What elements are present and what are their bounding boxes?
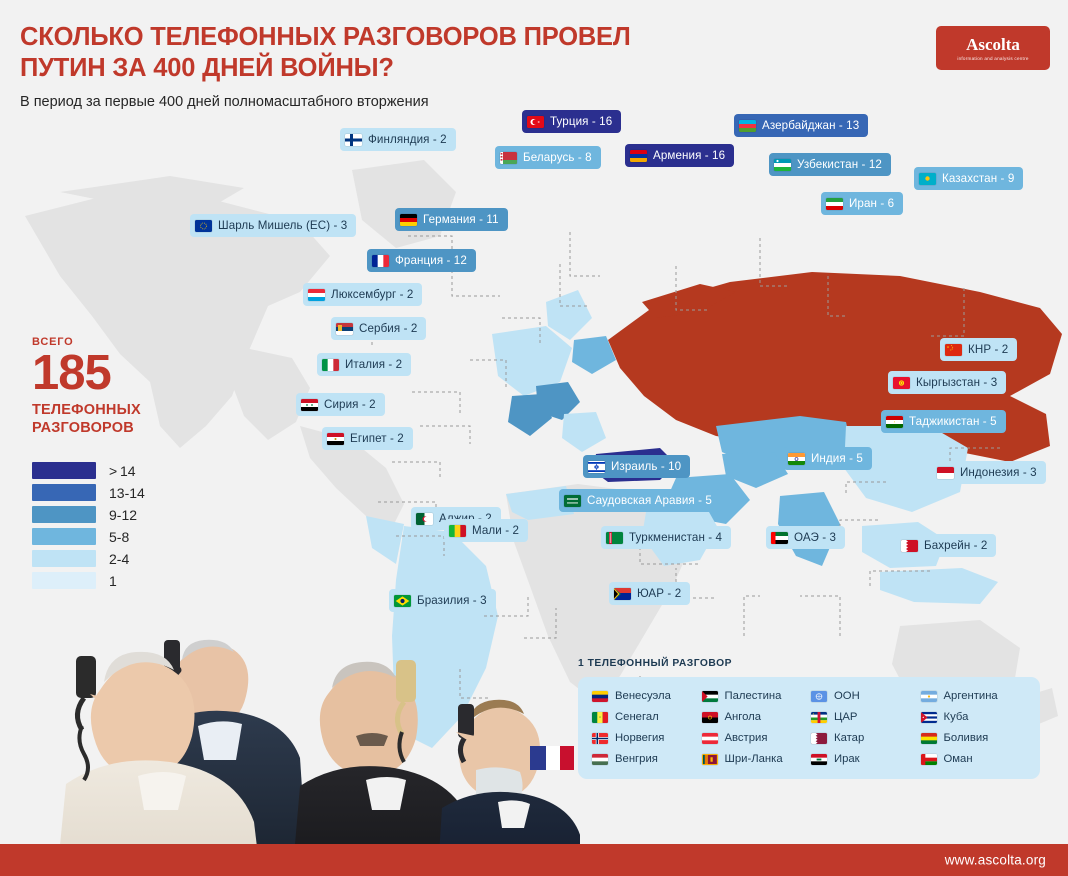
flag-icon-iran: [826, 198, 843, 210]
single-call-item[interactable]: Ангола: [702, 711, 808, 723]
logo-tagline: information and analysis centre: [957, 56, 1028, 61]
single-call-label: Норвегия: [615, 732, 664, 744]
flag-icon-armenia: [630, 150, 647, 162]
country-pill-label: Сирия - 2: [324, 399, 376, 411]
flag-icon: [811, 754, 827, 765]
country-pill-label: Азербайджан - 13: [762, 120, 859, 132]
country-pill-label: Израиль - 10: [611, 461, 681, 473]
scale-legend-row: 1: [32, 570, 182, 591]
flag-icon-kazakhstan: [919, 173, 936, 185]
flag-icon: [702, 691, 718, 702]
country-pill-label: Таджикистан - 5: [909, 416, 997, 428]
country-pill-label: Бахрейн - 2: [924, 540, 987, 552]
page-title: СКОЛЬКО ТЕЛЕФОННЫХ РАЗГОВОРОВ ПРОВЕЛ ПУТ…: [20, 22, 720, 84]
flag-icon-china: [945, 344, 962, 356]
flag-icon-luxembourg: [308, 289, 325, 301]
flag-icon-azerbaijan: [739, 120, 756, 132]
country-pill-label: Бразилия - 3: [417, 595, 487, 607]
country-pill-brazil[interactable]: Бразилия - 3: [389, 589, 496, 612]
country-pill-kazakhstan[interactable]: Казахстан - 9: [914, 167, 1023, 190]
country-pill-charles-michel[interactable]: Шарль Мишель (ЕС) - 3: [190, 214, 356, 237]
flag-icon-belarus: [500, 152, 517, 164]
country-pill-iran[interactable]: Иран - 6: [821, 192, 903, 215]
header: СКОЛЬКО ТЕЛЕФОННЫХ РАЗГОВОРОВ ПРОВЕЛ ПУТ…: [0, 0, 1068, 96]
page-subtitle: В период за первые 400 дней полномасштаб…: [20, 92, 440, 113]
single-call-item[interactable]: Аргентина: [921, 690, 1027, 702]
single-call-panel: 1 ТЕЛЕФОННЫЙ РАЗГОВОР ВенесуэлаПалестина…: [578, 658, 1040, 779]
country-pill-armenia[interactable]: Армения - 16: [625, 144, 734, 167]
scale-label: 1: [109, 573, 117, 589]
country-pill-luxembourg[interactable]: Люксембург - 2: [303, 283, 422, 306]
single-call-item[interactable]: Катар: [811, 732, 917, 744]
single-call-item[interactable]: Австрия: [702, 732, 808, 744]
flag-icon: [702, 733, 718, 744]
scale-label: 2-4: [109, 551, 129, 567]
country-pill-germany[interactable]: Германия - 11: [395, 208, 508, 231]
flag-icon-algeria: [416, 513, 433, 525]
flag-icon-india: [788, 453, 805, 465]
color-scale-legend: > 1413-149-125-82-41: [32, 460, 182, 592]
country-pill-kyrgyzstan[interactable]: Кыргызстан - 3: [888, 371, 1006, 394]
leaders-photo-group: [60, 578, 580, 848]
single-call-label: Ангола: [725, 711, 762, 723]
scale-label: 5-8: [109, 529, 129, 545]
flag-icon-serbia: [336, 323, 353, 335]
flag-icon: [592, 733, 608, 744]
single-call-item[interactable]: Венесуэла: [592, 690, 698, 702]
flag-icon: [811, 691, 827, 702]
single-call-item[interactable]: Оман: [921, 753, 1027, 765]
single-call-box: ВенесуэлаПалестинаООНАргентинаСенегалАнг…: [578, 677, 1040, 779]
logo-name: Ascolta: [966, 36, 1020, 53]
total-calls-block: ВСЕГО 185 ТЕЛЕФОННЫХ РАЗГОВОРОВ: [32, 336, 212, 437]
country-pill-label: Финляндия - 2: [368, 134, 447, 146]
flag-icon-indonesia: [937, 467, 954, 479]
country-pill-label: Индия - 5: [811, 453, 863, 465]
country-pill-belarus[interactable]: Беларусь - 8: [495, 146, 601, 169]
single-call-label: Оман: [944, 753, 973, 765]
country-pill-label: Германия - 11: [423, 214, 499, 226]
flag-icon-turkmenistan: [606, 532, 623, 544]
single-call-label: Венесуэла: [615, 690, 671, 702]
flag-icon-germany: [400, 214, 417, 226]
single-call-label: Палестина: [725, 690, 782, 702]
flag-icon: [921, 754, 937, 765]
country-pill-label: Франция - 12: [395, 255, 467, 267]
flag-icon-brazil: [394, 595, 411, 607]
flag-icon: [702, 754, 718, 765]
scale-legend-row: 5-8: [32, 526, 182, 547]
scale-legend-row: 2-4: [32, 548, 182, 569]
country-pill-label: Египет - 2: [350, 433, 404, 445]
country-pill-mali[interactable]: Мали - 2: [444, 519, 528, 542]
footer-url[interactable]: www.ascolta.org: [945, 853, 1046, 868]
scale-swatch: [32, 572, 96, 589]
scale-label: 9-12: [109, 507, 137, 523]
country-pill-label: Мали - 2: [472, 525, 519, 537]
country-pill-serbia[interactable]: Сербия - 2: [331, 317, 426, 340]
country-pill-label: Узбекистан - 12: [797, 159, 882, 171]
total-caption: ТЕЛЕФОННЫХ РАЗГОВОРОВ: [32, 402, 212, 437]
country-pill-uae[interactable]: ОАЭ - 3: [766, 526, 845, 549]
single-call-item[interactable]: Венгрия: [592, 753, 698, 765]
single-call-label: Куба: [944, 711, 969, 723]
flag-icon: [592, 691, 608, 702]
single-call-label: Боливия: [944, 732, 989, 744]
country-pill-finland[interactable]: Финляндия - 2: [340, 128, 456, 151]
flag-icon-bahrain: [901, 540, 918, 552]
country-pill-label: Италия - 2: [345, 359, 402, 371]
single-call-item[interactable]: Ирак: [811, 753, 917, 765]
flag-icon: [592, 712, 608, 723]
single-call-item[interactable]: ЦАР: [811, 711, 917, 723]
single-call-label: Аргентина: [944, 690, 998, 702]
single-call-label: Австрия: [725, 732, 768, 744]
scale-swatch: [32, 506, 96, 523]
footer-bar: www.ascolta.org: [0, 844, 1068, 876]
single-call-label: Сенегал: [615, 711, 659, 723]
infographic-root: .land { fill:#e3e3e3; } .b1 { fill:#ddef…: [0, 0, 1068, 876]
country-pill-france[interactable]: Франция - 12: [367, 249, 476, 272]
flag-icon-uae: [771, 532, 788, 544]
single-call-item[interactable]: Куба: [921, 711, 1027, 723]
flag-icon: [702, 712, 718, 723]
flag-icon-finland: [345, 134, 362, 146]
country-pill-label: ЮАР - 2: [637, 588, 681, 600]
country-pill-uzbekistan[interactable]: Узбекистан - 12: [769, 153, 891, 176]
country-pill-label: Армения - 16: [653, 150, 725, 162]
country-pill-azerbaijan[interactable]: Азербайджан - 13: [734, 114, 868, 137]
country-pill-turkey[interactable]: Турция - 16: [522, 110, 621, 133]
scale-swatch: [32, 462, 96, 479]
country-pill-label: Беларусь - 8: [523, 152, 592, 164]
flag-icon: [592, 754, 608, 765]
single-call-title: 1 ТЕЛЕФОННЫЙ РАЗГОВОР: [578, 658, 1040, 669]
country-pill-indonesia[interactable]: Индонезия - 3: [932, 461, 1046, 484]
country-pill-label: Кыргызстан - 3: [916, 377, 997, 389]
flag-icon-charles-michel: [195, 220, 212, 232]
country-pill-label: Индонезия - 3: [960, 467, 1037, 479]
country-pill-bahrain[interactable]: Бахрейн - 2: [896, 534, 996, 557]
flag-icon: [921, 691, 937, 702]
flag-icon-italy: [322, 359, 339, 371]
scale-legend-row: > 14: [32, 460, 182, 481]
flag-icon-mali: [449, 525, 466, 537]
country-pill-label: Шарль Мишель (ЕС) - 3: [218, 220, 347, 232]
scale-swatch: [32, 484, 96, 501]
flag-icon: [811, 733, 827, 744]
scale-legend-row: 13-14: [32, 482, 182, 503]
country-pill-label: Иран - 6: [849, 198, 894, 210]
flag-icon-saudi-arabia: [564, 495, 581, 507]
single-call-item[interactable]: Боливия: [921, 732, 1027, 744]
country-pill-label: Саудовская Аравия - 5: [587, 495, 712, 507]
ascolta-logo[interactable]: Ascolta information and analysis centre: [936, 26, 1050, 70]
flag-icon-south-africa: [614, 588, 631, 600]
country-pill-tajikistan[interactable]: Таджикистан - 5: [881, 410, 1006, 433]
flag-icon-syria: [301, 399, 318, 411]
scale-label: > 14: [109, 463, 136, 479]
flag-icon-uzbekistan: [774, 159, 791, 171]
country-pill-label: Казахстан - 9: [942, 173, 1014, 185]
country-pill-china[interactable]: КНР - 2: [940, 338, 1017, 361]
single-call-label: Шри-Ланка: [725, 753, 783, 765]
country-pill-turkmenistan[interactable]: Туркменистан - 4: [601, 526, 731, 549]
country-pill-label: Турция - 16: [550, 116, 612, 128]
single-call-item[interactable]: Сенегал: [592, 711, 698, 723]
flag-icon-egypt: [327, 433, 344, 445]
flag-icon: [921, 712, 937, 723]
flag-icon: [921, 733, 937, 744]
scale-legend-row: 9-12: [32, 504, 182, 525]
country-pill-label: Сербия - 2: [359, 323, 417, 335]
scale-label: 13-14: [109, 485, 145, 501]
single-call-item[interactable]: Норвегия: [592, 732, 698, 744]
country-pill-italy[interactable]: Италия - 2: [317, 353, 411, 376]
flag-icon-turkey: [527, 116, 544, 128]
single-call-label: Ирак: [834, 753, 860, 765]
single-call-label: Венгрия: [615, 753, 658, 765]
single-call-item[interactable]: Палестина: [702, 690, 808, 702]
country-pill-india[interactable]: Индия - 5: [783, 447, 872, 470]
country-pill-label: ОАЭ - 3: [794, 532, 836, 544]
country-pill-label: Люксембург - 2: [331, 289, 413, 301]
country-pill-israel[interactable]: Израиль - 10: [583, 455, 690, 478]
country-pill-label: Туркменистан - 4: [629, 532, 722, 544]
flag-icon-france: [372, 255, 389, 267]
single-call-grid: ВенесуэлаПалестинаООНАргентинаСенегалАнг…: [592, 690, 1026, 765]
country-pill-syria[interactable]: Сирия - 2: [296, 393, 385, 416]
country-pill-label: КНР - 2: [968, 344, 1008, 356]
single-call-item[interactable]: Шри-Ланка: [702, 753, 808, 765]
flag-icon: [811, 712, 827, 723]
single-call-label: Катар: [834, 732, 864, 744]
flag-icon-kyrgyzstan: [893, 377, 910, 389]
total-number: 185: [32, 350, 212, 397]
scale-swatch: [32, 550, 96, 567]
flag-icon-israel: [588, 461, 605, 473]
country-pill-south-africa[interactable]: ЮАР - 2: [609, 582, 690, 605]
single-call-item[interactable]: ООН: [811, 690, 917, 702]
single-call-label: ООН: [834, 690, 860, 702]
flag-icon-tajikistan: [886, 416, 903, 428]
country-pill-egypt[interactable]: Египет - 2: [322, 427, 413, 450]
single-call-label: ЦАР: [834, 711, 857, 723]
scale-swatch: [32, 528, 96, 545]
country-pill-saudi-arabia[interactable]: Саудовская Аравия - 5: [559, 489, 721, 512]
